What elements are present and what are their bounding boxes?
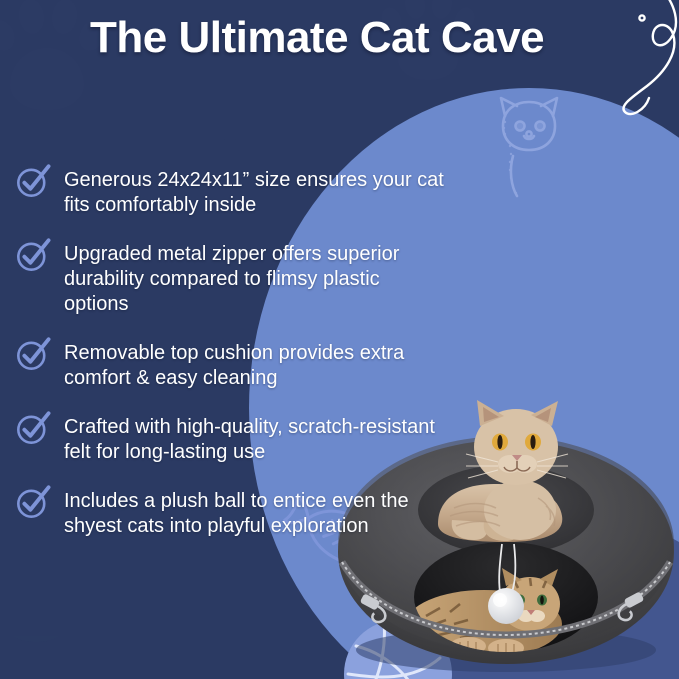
check-circle-icon [14, 236, 52, 274]
list-item: Generous 24x24x11” size ensures your cat… [14, 166, 444, 218]
check-circle-icon [14, 409, 52, 447]
paw-print [0, 540, 88, 644]
feature-text: Upgraded metal zipper offers superior du… [64, 240, 444, 317]
feature-text: Removable top cushion provides extra com… [64, 339, 444, 391]
list-item: Crafted with high-quality, scratch-resis… [14, 413, 444, 465]
check-circle-icon [14, 162, 52, 200]
paw-print [556, 0, 636, 60]
page-title: The Ultimate Cat Cave [90, 13, 544, 63]
cat-cave-infographic: The Ultimate Cat Cave Generous 24x24x11”… [0, 0, 679, 679]
check-circle-icon [14, 483, 52, 521]
feature-text: Crafted with high-quality, scratch-resis… [64, 413, 444, 465]
check-circle-icon [14, 335, 52, 373]
feature-text: Includes a plush ball to entice even the… [64, 487, 444, 539]
list-item: Upgraded metal zipper offers superior du… [14, 240, 444, 317]
list-item: Removable top cushion provides extra com… [14, 339, 444, 391]
feature-text: Generous 24x24x11” size ensures your cat… [64, 166, 444, 218]
feature-list: Generous 24x24x11” size ensures your cat… [14, 166, 444, 539]
list-item: Includes a plush ball to entice even the… [14, 487, 444, 539]
